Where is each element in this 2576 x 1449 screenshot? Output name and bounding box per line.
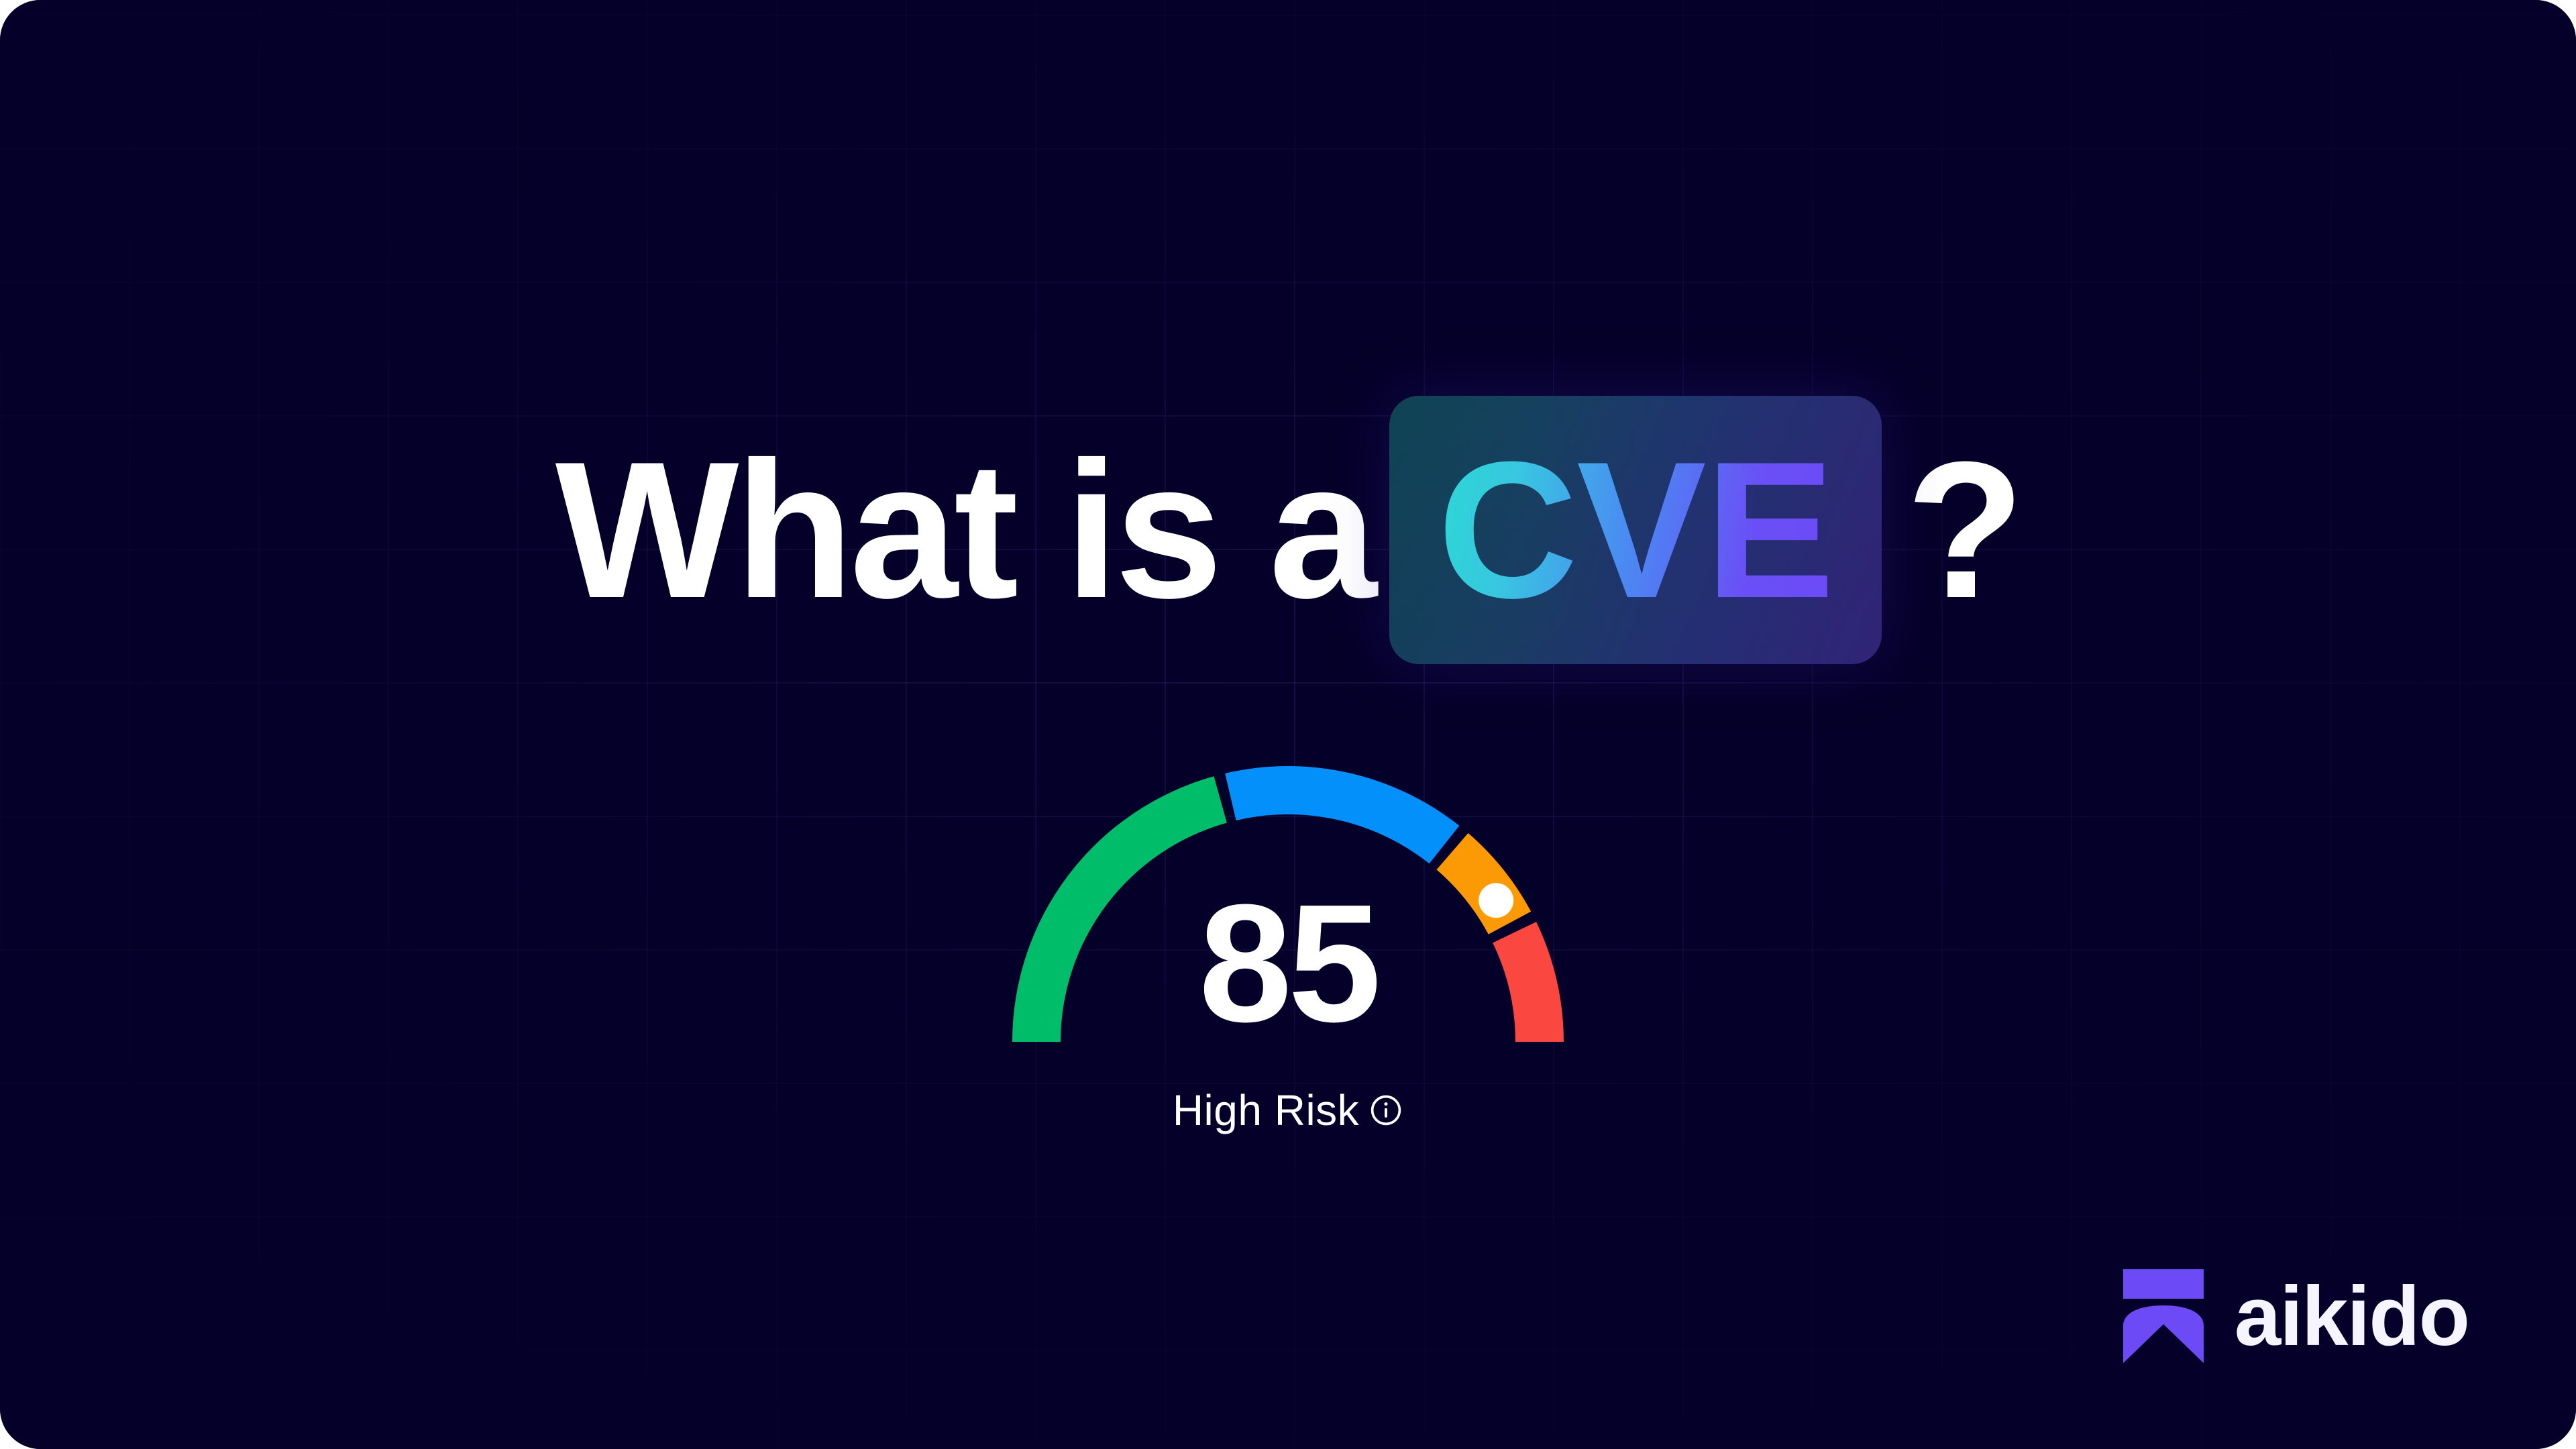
info-circle-icon[interactable] <box>1368 1093 1403 1128</box>
background-grid <box>0 0 2576 1449</box>
risk-label: High Risk <box>1173 1085 1359 1135</box>
gauge-value-label: 85 <box>986 879 1590 1047</box>
background-vignette <box>0 0 2576 1449</box>
cve-highlight-text: CVE <box>1438 433 1833 627</box>
risk-gauge: 85 High Risk <box>0 758 2576 1135</box>
cve-highlight-chip: CVE <box>1389 396 1882 664</box>
headline-question-mark: ? <box>1906 433 2021 627</box>
aikido-logo[interactable]: aikido <box>2123 1269 2469 1363</box>
aikido-arrow-mark-icon <box>2123 1269 2204 1363</box>
aikido-wordmark: aikido <box>2235 1275 2469 1358</box>
gauge-segment-medium <box>1225 766 1459 863</box>
gauge-arc-wrap: 85 <box>986 758 1590 1053</box>
poster-canvas: What is a CVE ? 85 High Risk <box>0 0 2576 1449</box>
headline-prefix: What is a <box>555 433 1373 627</box>
risk-status-row: High Risk <box>1173 1085 1403 1135</box>
page-title: What is a CVE ? <box>0 396 2576 664</box>
